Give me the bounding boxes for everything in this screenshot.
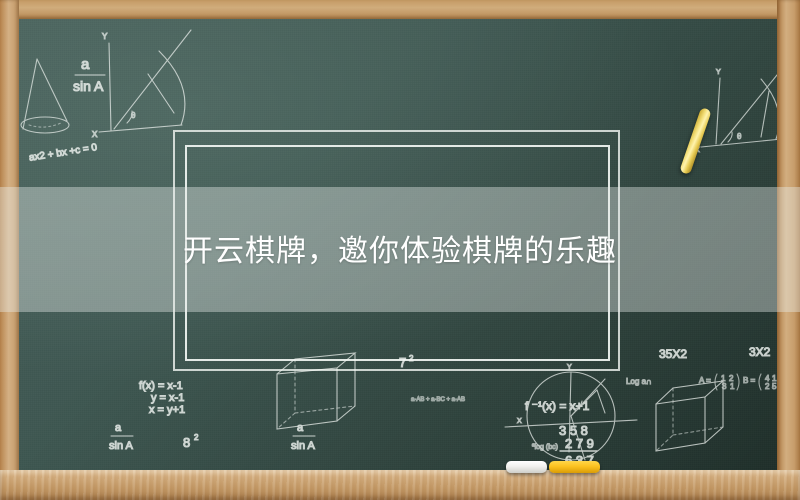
svg-text:X: X — [517, 418, 522, 425]
chalk-eight-exp: 2 — [194, 433, 199, 442]
svg-text:sin A: sin A — [291, 440, 316, 452]
svg-text:θ: θ — [131, 111, 136, 120]
chalk-angle-diagram-right: Y X θ — [695, 59, 777, 154]
chalk-function-equations: f(x) = x-1 y = x-1 x = y+1 — [139, 380, 185, 416]
chalk-log-bc: ªlog (bc) — [532, 444, 558, 451]
ledge-wood-grain — [0, 470, 800, 500]
svg-text:ax2 + bx +c = 0: ax2 + bx +c = 0 — [28, 142, 98, 164]
chalkboard-banner: a sin A Y X θ ax2 + — [0, 0, 800, 500]
svg-text:x = y+1: x = y+1 — [149, 404, 185, 416]
chalk-tiny-expr: a·AB + a·BC + a·AB — [411, 397, 465, 403]
svg-text:sin A: sin A — [109, 440, 134, 452]
svg-text:a: a — [115, 422, 122, 434]
svg-text:B =: B = — [743, 376, 756, 385]
svg-text:a: a — [81, 56, 90, 73]
chalk-matrix-a-label: 35X2 — [659, 347, 687, 361]
svg-text:Y: Y — [102, 32, 108, 41]
svg-text:sin A: sin A — [73, 78, 104, 94]
chalk-log-an: Log a∩ — [626, 377, 652, 386]
svg-text:5: 5 — [772, 382, 777, 391]
svg-text:1: 1 — [730, 382, 735, 391]
white-chalk-stick-icon — [506, 461, 547, 473]
chalk-eight: 8 — [183, 435, 190, 450]
yellow-chalk-stick-ledge-icon — [549, 461, 600, 473]
svg-text:2 7 9: 2 7 9 — [565, 436, 594, 451]
svg-text:f(x) = x-1: f(x) = x-1 — [139, 380, 183, 392]
chalk-cube-right — [656, 381, 723, 451]
svg-text:θ: θ — [737, 132, 742, 141]
svg-text:Y: Y — [716, 69, 721, 76]
chalk-cone — [21, 59, 69, 133]
svg-text:2: 2 — [765, 382, 770, 391]
svg-text:a: a — [297, 422, 304, 434]
chalk-sine-rule-lower-left: a sin A — [109, 422, 134, 452]
chalk-quadratic-topleft: ax2 + bx +c = 0 — [28, 142, 98, 164]
chalk-sine-rule-topleft: a sin A — [73, 56, 105, 94]
chalk-ledge — [0, 470, 800, 500]
svg-text:X: X — [92, 130, 98, 139]
frame-top-rail — [0, 0, 800, 19]
svg-text:y = x-1: y = x-1 — [151, 392, 184, 404]
page-title: 开云棋牌，邀你体验棋牌的乐趣 — [0, 231, 800, 273]
chalk-matrix-b-label: 3X2 — [749, 345, 771, 359]
chalk-angle-diagram-topleft: Y X θ — [92, 30, 191, 139]
